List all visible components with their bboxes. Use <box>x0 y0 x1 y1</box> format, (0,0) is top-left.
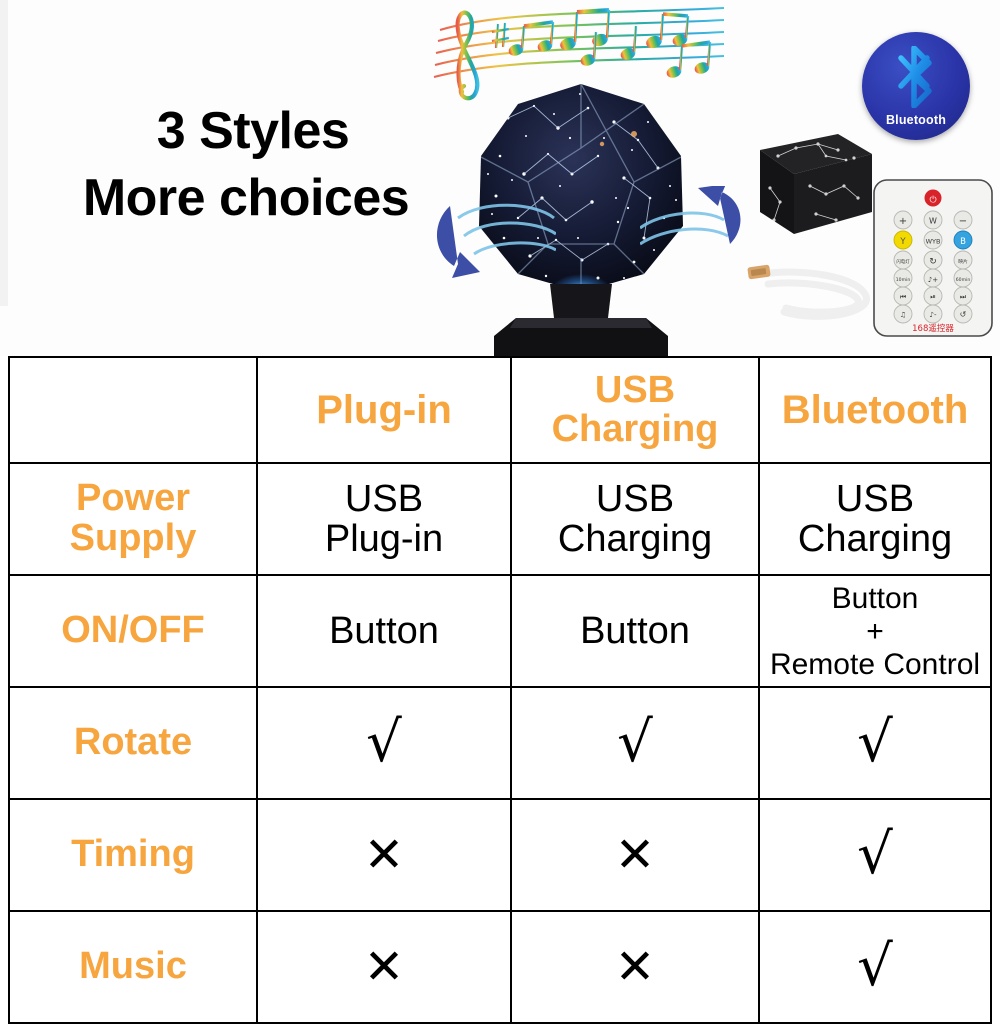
svg-text:⏯: ⏯ <box>930 293 936 301</box>
svg-text:⏭: ⏭ <box>960 293 967 301</box>
table-row: Rotate√√√ <box>9 687 991 799</box>
cell-value: USBPlug-in <box>262 479 506 560</box>
cross-icon: ✕ <box>262 943 506 991</box>
table-cell-check: √ <box>257 687 511 799</box>
table-cell-check: √ <box>511 687 759 799</box>
row-label-power-supply: PowerSupply <box>9 463 257 575</box>
column-header-label: Plug-in <box>262 390 506 430</box>
check-icon: √ <box>516 715 754 771</box>
row-label-rotate: Rotate <box>9 687 257 799</box>
cross-icon: ✕ <box>516 943 754 991</box>
cross-icon: ✕ <box>516 831 754 879</box>
check-icon: √ <box>764 715 986 771</box>
headline-line-1: 3 Styles <box>46 98 446 165</box>
table-cell-text: Button <box>511 575 759 687</box>
table-cell-text: Button+Remote Control <box>759 575 991 687</box>
cross-icon: ✕ <box>262 831 506 879</box>
svg-text:WYB: WYB <box>926 238 941 246</box>
svg-text:映片: 映片 <box>958 258 968 265</box>
column-header-label: Bluetooth <box>764 390 986 430</box>
cell-value: Button+Remote Control <box>764 582 986 681</box>
svg-text:⏮: ⏮ <box>900 293 906 301</box>
row-label-text: PowerSupply <box>14 479 252 558</box>
table-row: Music✕✕√ <box>9 911 991 1023</box>
bluetooth-badge-label: Bluetooth <box>862 113 970 127</box>
page-title: 3 Styles More choices <box>46 98 446 231</box>
row-label-text: Music <box>14 947 252 987</box>
remote-control: ⏻ + W − Y WYB B 闪电灯 ↻ 映片 10min ♪+ 60min … <box>870 178 996 338</box>
table-cell-text: USBCharging <box>759 463 991 575</box>
table-header-row: Plug-inUSBChargingBluetooth <box>9 357 991 463</box>
table-corner-cell <box>9 357 257 463</box>
row-label-text: Rotate <box>14 723 252 763</box>
svg-text:B: B <box>960 237 966 247</box>
cell-value: USBCharging <box>516 479 754 560</box>
check-icon: √ <box>262 715 506 771</box>
table-cell-cross: ✕ <box>257 911 511 1023</box>
svg-text:♪-: ♪- <box>930 311 937 319</box>
svg-text:+: + <box>899 216 907 227</box>
left-edge-strip <box>0 0 8 306</box>
cell-value: Button <box>516 611 754 651</box>
cell-value: USBCharging <box>764 479 986 560</box>
row-label-text: Timing <box>14 835 252 875</box>
row-label-text: ON/OFF <box>14 611 252 651</box>
column-header-plug-in: Plug-in <box>257 357 511 463</box>
svg-text:↻: ↻ <box>929 257 937 267</box>
svg-text:♪+: ♪+ <box>928 276 938 284</box>
svg-text:10min: 10min <box>896 277 911 283</box>
table-cell-cross: ✕ <box>511 799 759 911</box>
table-cell-cross: ✕ <box>257 799 511 911</box>
svg-text:−: − <box>959 216 967 227</box>
row-label-timing: Timing <box>9 799 257 911</box>
table-row: Timing✕✕√ <box>9 799 991 911</box>
cell-value: Button <box>262 611 506 651</box>
svg-text:♫: ♫ <box>900 311 906 319</box>
svg-text:↺: ↺ <box>960 310 967 319</box>
hero-banner: 3 Styles More choices <box>0 0 1000 356</box>
svg-text:Y: Y <box>899 237 906 247</box>
column-header-bluetooth: Bluetooth <box>759 357 991 463</box>
headline-line-2: More choices <box>46 165 446 232</box>
table-row: PowerSupplyUSBPlug-inUSBChargingUSBCharg… <box>9 463 991 575</box>
svg-text:W: W <box>929 217 937 226</box>
bluetooth-badge: Bluetooth <box>862 32 970 140</box>
table-cell-text: USBPlug-in <box>257 463 511 575</box>
table-row: ON/OFFButtonButtonButton+Remote Control <box>9 575 991 687</box>
column-header-label: USBCharging <box>516 371 754 449</box>
check-icon: √ <box>764 827 986 883</box>
svg-text:⏻: ⏻ <box>929 195 936 206</box>
bluetooth-icon <box>893 46 939 108</box>
constellation-gift-box <box>726 116 876 244</box>
row-label-on-off: ON/OFF <box>9 575 257 687</box>
comparison-table: Plug-inUSBChargingBluetoothPowerSupplyUS… <box>8 356 992 1024</box>
remote-model-label: 168遥控器 <box>912 323 954 334</box>
usb-cable <box>740 246 880 330</box>
svg-text:闪电灯: 闪电灯 <box>896 258 910 265</box>
table-cell-check: √ <box>759 799 991 911</box>
table-cell-text: Button <box>257 575 511 687</box>
row-label-music: Music <box>9 911 257 1023</box>
table-cell-cross: ✕ <box>511 911 759 1023</box>
table-cell-check: √ <box>759 687 991 799</box>
check-icon: √ <box>764 939 986 995</box>
svg-text:60min: 60min <box>956 277 971 283</box>
rotation-arrow-left-icon <box>424 188 556 280</box>
table-cell-text: USBCharging <box>511 463 759 575</box>
table-cell-check: √ <box>759 911 991 1023</box>
column-header-usb-charging: USBCharging <box>511 357 759 463</box>
